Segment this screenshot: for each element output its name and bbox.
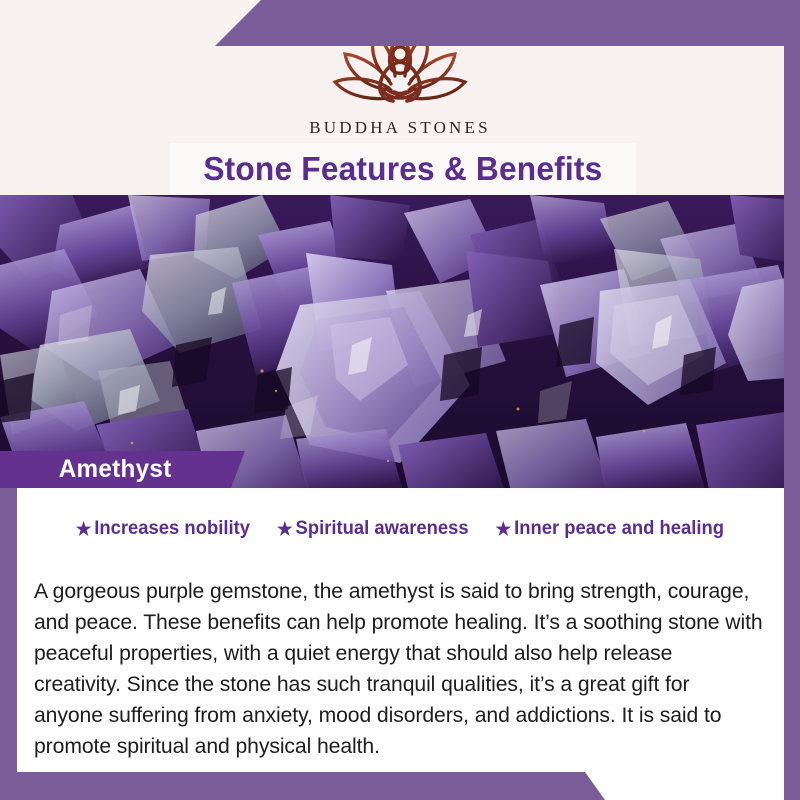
frame-accent-right bbox=[784, 0, 800, 800]
star-icon: ★ bbox=[496, 520, 512, 538]
star-icon: ★ bbox=[76, 520, 92, 538]
content-section: ★ Increases nobility ★ Spiritual awarene… bbox=[0, 488, 800, 800]
stone-info-card: BUDDHA STONES bbox=[0, 0, 800, 800]
star-icon: ★ bbox=[277, 520, 293, 538]
frame-accent-top bbox=[215, 0, 800, 46]
benefit-label: Increases nobility bbox=[94, 518, 250, 540]
benefit-item-1: ★ Increases nobility bbox=[76, 518, 250, 540]
frame-accent-left bbox=[0, 488, 17, 800]
benefits-list: ★ Increases nobility ★ Spiritual awarene… bbox=[17, 518, 784, 540]
amethyst-crystal-photo bbox=[0, 195, 800, 488]
stone-name: Amethyst bbox=[59, 455, 172, 484]
benefit-label: Inner peace and healing bbox=[514, 518, 724, 540]
benefit-item-3: ★ Inner peace and healing bbox=[496, 518, 725, 540]
benefit-label: Spiritual awareness bbox=[295, 518, 468, 540]
page-title: Stone Features & Benefits bbox=[203, 150, 602, 188]
benefit-item-2: ★ Spiritual awareness bbox=[277, 518, 469, 540]
stone-name-banner: Amethyst bbox=[0, 451, 245, 488]
brand-name: BUDDHA STONES bbox=[0, 118, 800, 138]
section-title-band: Stone Features & Benefits bbox=[170, 143, 636, 195]
stone-description: A gorgeous purple gemstone, the amethyst… bbox=[34, 576, 763, 762]
frame-accent-bottom bbox=[0, 772, 605, 800]
